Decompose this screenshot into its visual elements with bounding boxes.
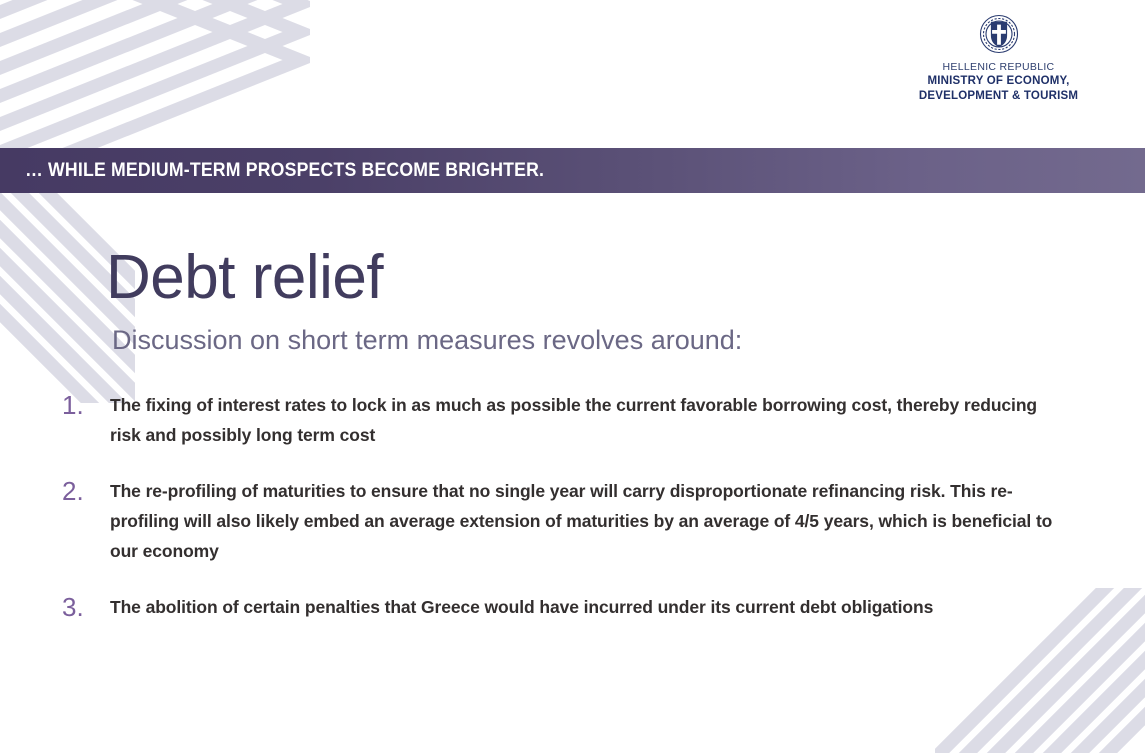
list-item: 2. The re-profiling of maturities to ens… <box>62 476 1062 566</box>
logo-line-ministry: MINISTRY OF ECONOMY, <box>896 74 1101 89</box>
logo-line-development: DEVELOPMENT & TOURISM <box>896 89 1101 104</box>
numbered-list: 1. The fixing of interest rates to lock … <box>62 390 1062 649</box>
greek-coat-of-arms-icon <box>979 14 1019 54</box>
slide: HELLENIC REPUBLIC MINISTRY OF ECONOMY, D… <box>0 0 1145 753</box>
list-item: 1. The fixing of interest rates to lock … <box>62 390 1062 450</box>
list-item: 3. The abolition of certain penalties th… <box>62 592 1062 622</box>
section-banner: … WHILE MEDIUM-TERM PROSPECTS BECOME BRI… <box>0 148 1145 193</box>
list-item-number: 2. <box>62 476 110 505</box>
list-item-text: The fixing of interest rates to lock in … <box>110 390 1062 450</box>
page-subtitle: Discussion on short term measures revolv… <box>112 327 742 354</box>
banner-heading: … WHILE MEDIUM-TERM PROSPECTS BECOME BRI… <box>0 160 544 182</box>
page-title: Debt relief <box>106 247 383 309</box>
list-item-number: 3. <box>62 592 110 621</box>
ministry-logo: HELLENIC REPUBLIC MINISTRY OF ECONOMY, D… <box>896 14 1101 104</box>
list-item-text: The re-profiling of maturities to ensure… <box>110 476 1062 566</box>
list-item-text: The abolition of certain penalties that … <box>110 592 1062 622</box>
list-item-number: 1. <box>62 390 110 419</box>
chevron-pattern-top-left <box>0 0 310 148</box>
logo-line-hellenic-republic: HELLENIC REPUBLIC <box>896 61 1101 74</box>
